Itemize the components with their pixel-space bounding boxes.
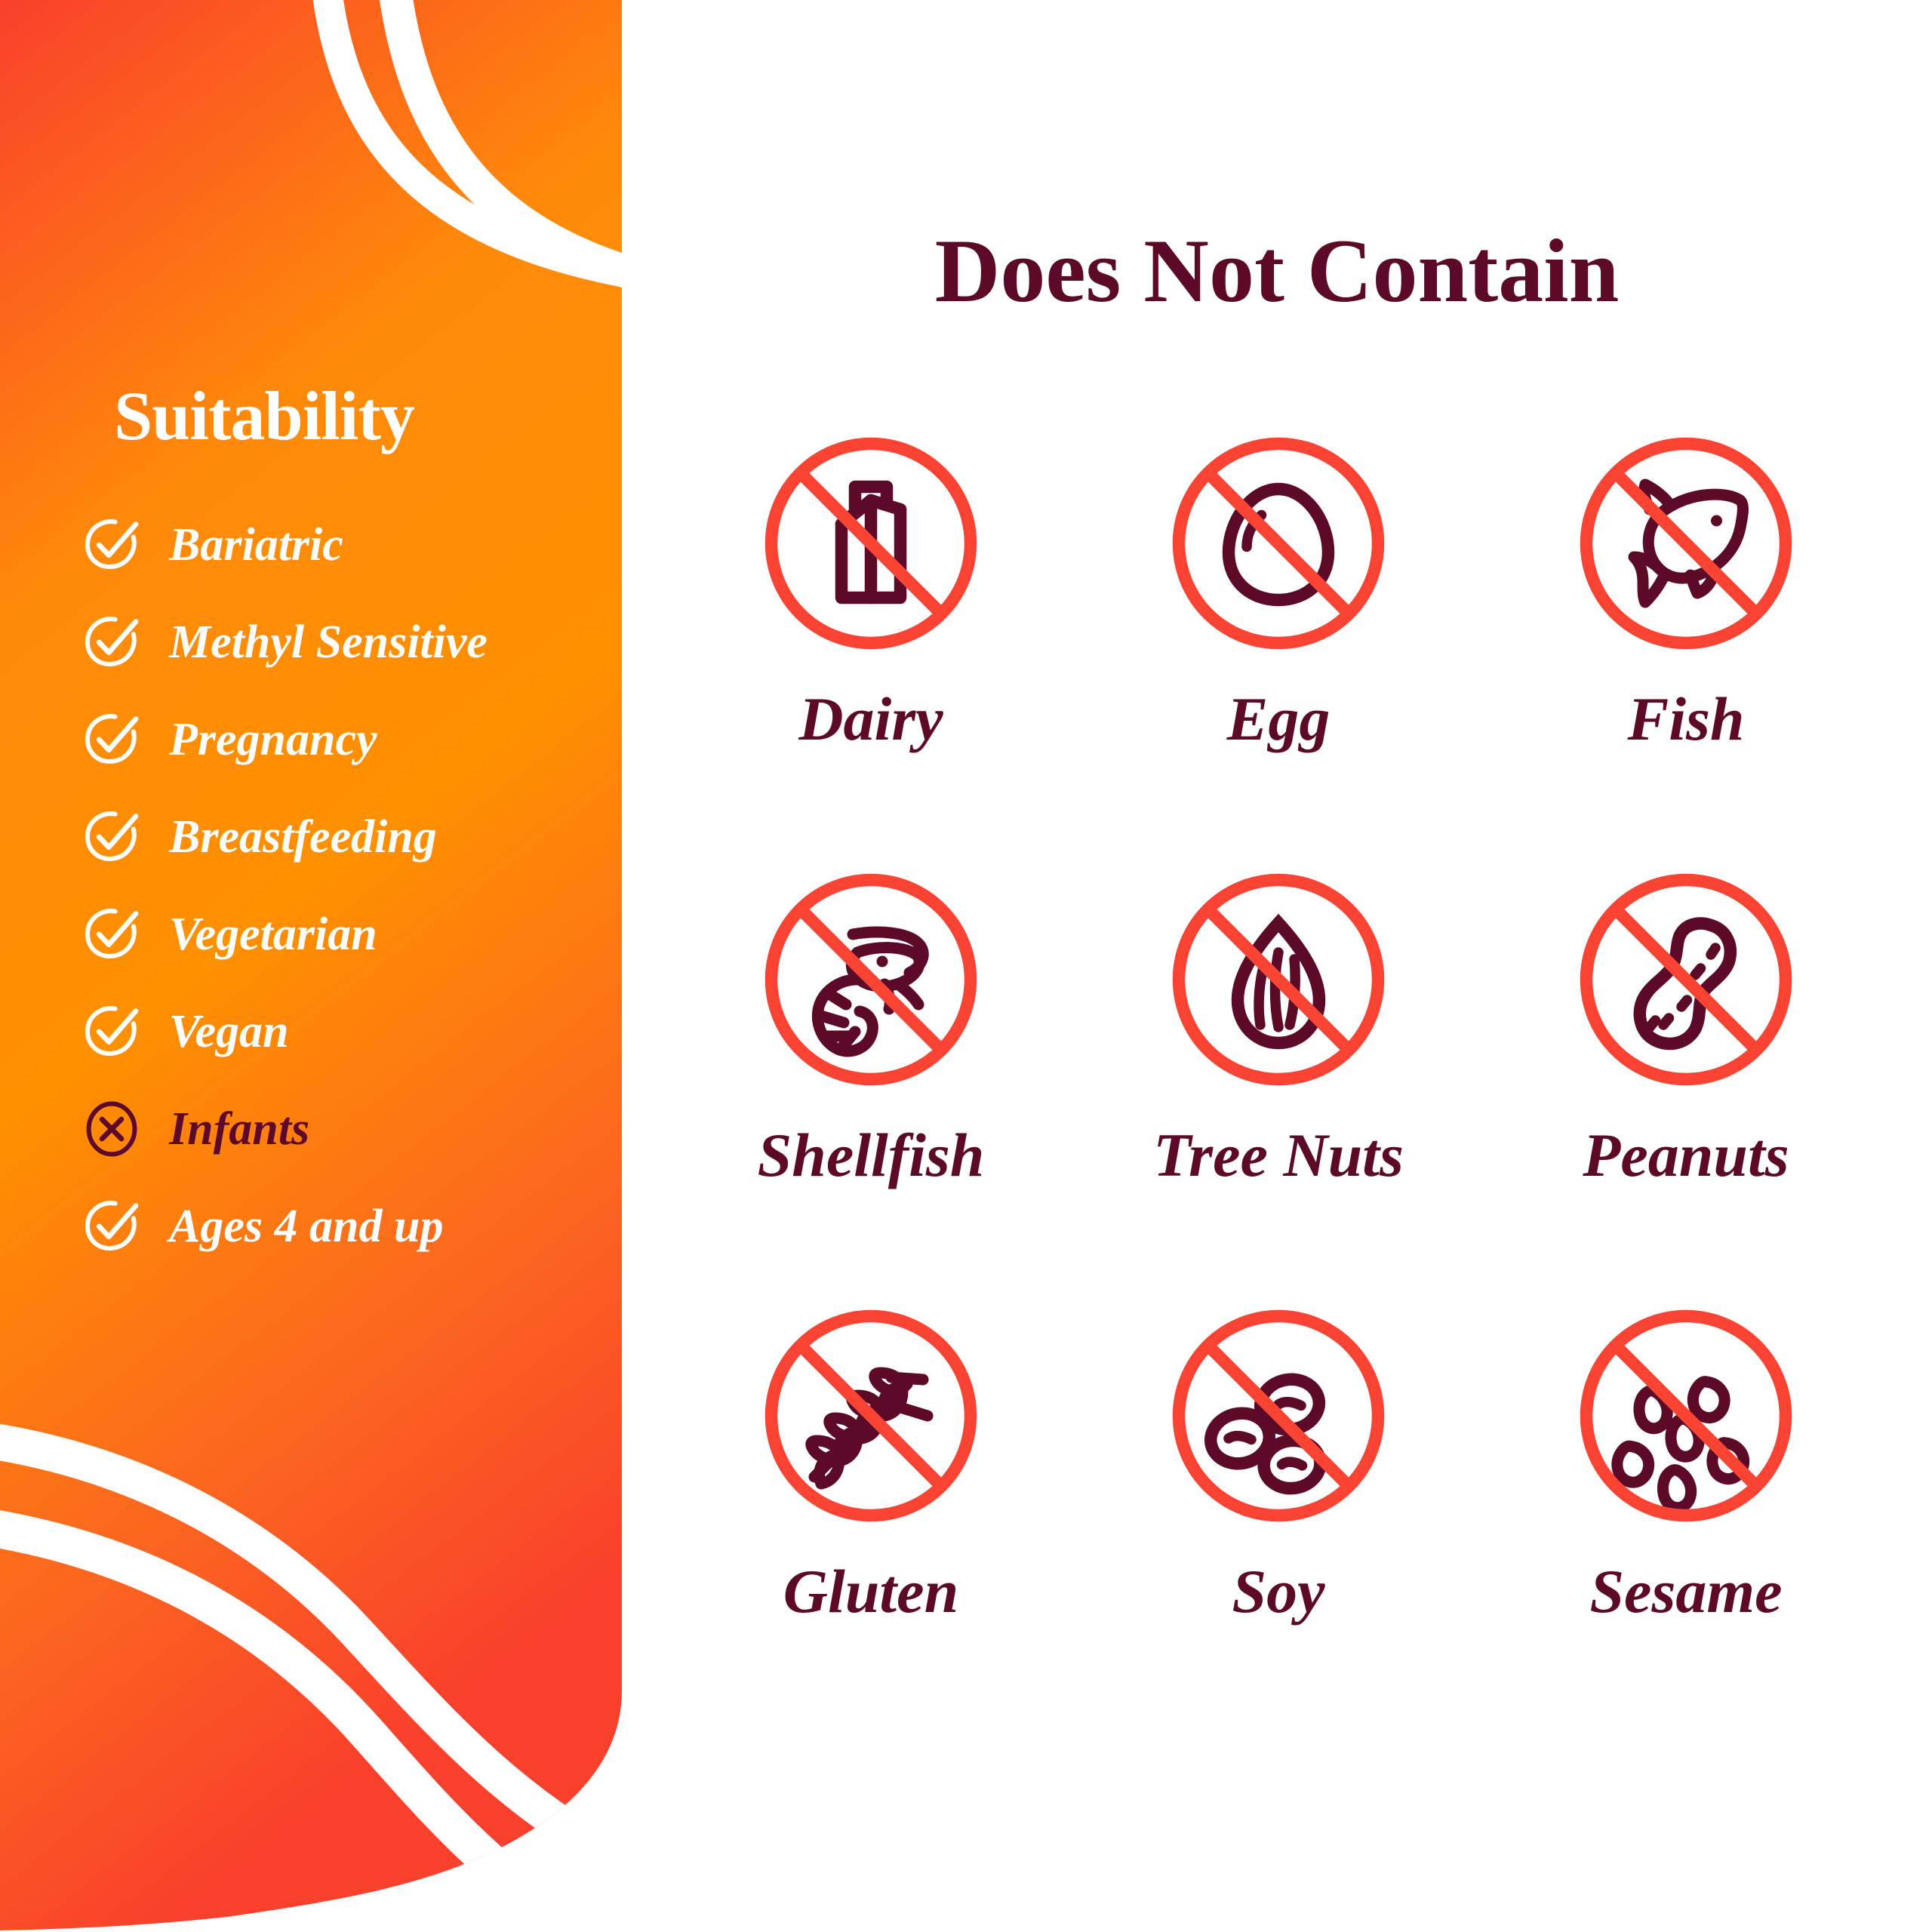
- allergen-item-gluten: Gluten: [667, 1303, 1075, 1739]
- allergen-label: Dairy: [798, 688, 943, 750]
- list-item-label: Infants: [169, 1106, 309, 1152]
- list-item: Methyl Sensitive: [83, 605, 622, 680]
- suitability-list: Bariatric Methyl Sensitive Pregnancy: [83, 507, 622, 1286]
- section-title: Does Not Contain: [622, 219, 1932, 323]
- allergen-grid: Dairy Egg: [667, 430, 1890, 1739]
- check-circle-icon: [83, 808, 140, 866]
- list-item-label: Vegan: [169, 1008, 288, 1055]
- list-item-label: Bariatric: [169, 521, 343, 568]
- page-title: Suitability: [0, 376, 528, 456]
- allergen-label: Egg: [1227, 688, 1331, 750]
- list-item-label: Methyl Sensitive: [169, 619, 488, 666]
- list-item: Vegetarian: [83, 897, 622, 972]
- allergen-item-peanuts: Peanuts: [1482, 866, 1890, 1303]
- allergen-label: Tree Nuts: [1153, 1124, 1404, 1186]
- list-item: Pregnancy: [83, 702, 622, 777]
- allergen-label: Gluten: [783, 1561, 958, 1623]
- no-wheat-icon: [758, 1303, 984, 1529]
- list-item: Vegan: [83, 994, 622, 1069]
- no-peanut-icon: [1573, 866, 1799, 1093]
- no-almond-icon: [1165, 866, 1392, 1093]
- allergen-label: Sesame: [1589, 1561, 1782, 1623]
- allergen-item-soy: Soy: [1075, 1303, 1482, 1739]
- check-circle-icon: [83, 614, 140, 671]
- list-item-label: Vegetarian: [169, 911, 377, 958]
- allergen-label: Peanuts: [1583, 1124, 1789, 1186]
- check-circle-icon: [83, 1003, 140, 1060]
- no-milk-carton-icon: [758, 430, 984, 657]
- allergen-label: Shellfish: [758, 1124, 985, 1186]
- allergen-item-tree-nuts: Tree Nuts: [1075, 866, 1482, 1303]
- x-circle-icon: [83, 1100, 140, 1158]
- no-soybean-icon: [1165, 1303, 1392, 1529]
- allergen-item-fish: Fish: [1482, 430, 1890, 866]
- no-shrimp-icon: [758, 866, 984, 1093]
- check-circle-icon: [83, 906, 140, 963]
- list-item-label: Pregnancy: [169, 716, 377, 763]
- check-circle-icon: [83, 516, 140, 574]
- list-item-label: Ages 4 and up: [169, 1203, 443, 1250]
- no-sesame-seeds-icon: [1573, 1303, 1799, 1529]
- suitability-panel: Suitability Bariatric Methyl Sensitive: [0, 0, 622, 1932]
- allergen-item-sesame: Sesame: [1482, 1303, 1890, 1739]
- list-item: Infants: [83, 1091, 622, 1167]
- list-item-label: Breastfeeding: [169, 814, 437, 860]
- allergen-label: Fish: [1628, 688, 1745, 750]
- no-egg-icon: [1165, 430, 1392, 657]
- no-fish-icon: [1573, 430, 1799, 657]
- allergen-item-egg: Egg: [1075, 430, 1482, 866]
- check-circle-icon: [83, 1198, 140, 1255]
- check-circle-icon: [83, 711, 140, 768]
- allergen-label: Soy: [1232, 1561, 1325, 1623]
- list-item: Breastfeeding: [83, 799, 622, 875]
- allergen-item-shellfish: Shellfish: [667, 866, 1075, 1303]
- allergen-item-dairy: Dairy: [667, 430, 1075, 866]
- list-item: Ages 4 and up: [83, 1189, 622, 1264]
- list-item: Bariatric: [83, 507, 622, 583]
- does-not-contain-section: Does Not Contain Dairy: [622, 0, 1932, 1932]
